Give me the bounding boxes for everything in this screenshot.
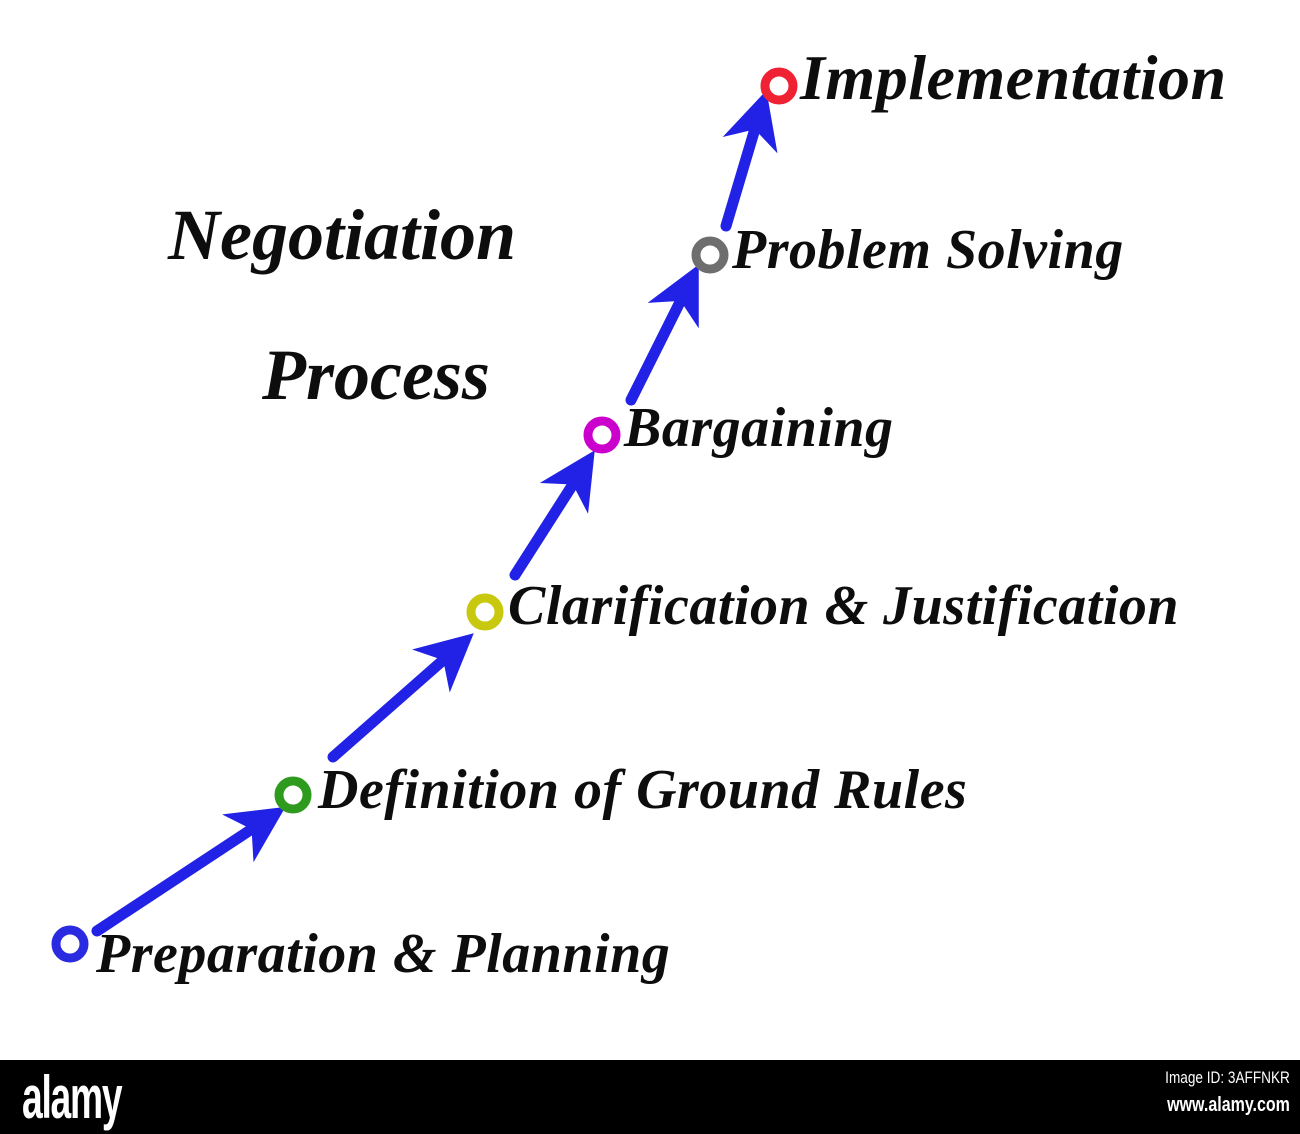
step-label-implementation: Implementation [800,46,1227,110]
step-label-problem-solving: Problem Solving [732,222,1124,278]
alamy-logo: alamy [22,1066,121,1129]
magenta-ring-marker [588,421,616,449]
diagram-title-line-1: Negotiation [168,198,516,274]
arrow-preparation-to-ground-rules [97,825,258,931]
arrow-clarification-to-bargaining [515,478,577,575]
diagram-title-line-2: Process [262,338,490,414]
arrow-problem-solving-to-implementation [726,122,757,226]
green-ring-marker [279,781,307,809]
step-label-preparation-planning: Preparation & Planning [96,926,670,982]
yellow-ring-marker [471,598,499,626]
screenshot-canvas: Negotiation Process Implementation Probl… [0,0,1300,1134]
step-label-bargaining: Bargaining [624,400,894,456]
step-label-clarification-justification: Clarification & Justification [508,578,1179,634]
arrow-ground-rules-to-clarification [333,655,449,757]
diagram-vector-layer [0,0,1300,1060]
gray-ring-marker [696,241,724,269]
alamy-url-text: www.alamy.com [1165,1094,1290,1117]
negotiation-process-diagram: Negotiation Process Implementation Probl… [0,0,1300,1060]
red-ring-marker [765,72,793,100]
arrow-bargaining-to-problem-solving [631,294,684,400]
image-id-text: Image ID: 3AFFNKR [1165,1068,1290,1088]
watermark-footer-bar: alamy Image ID: 3AFFNKR www.alamy.com [0,1060,1300,1134]
step-label-definition-of-ground-rules: Definition of Ground Rules [318,762,967,818]
footer-meta: Image ID: 3AFFNKR www.alamy.com [1134,1068,1290,1117]
blue-ring-marker [56,930,84,958]
